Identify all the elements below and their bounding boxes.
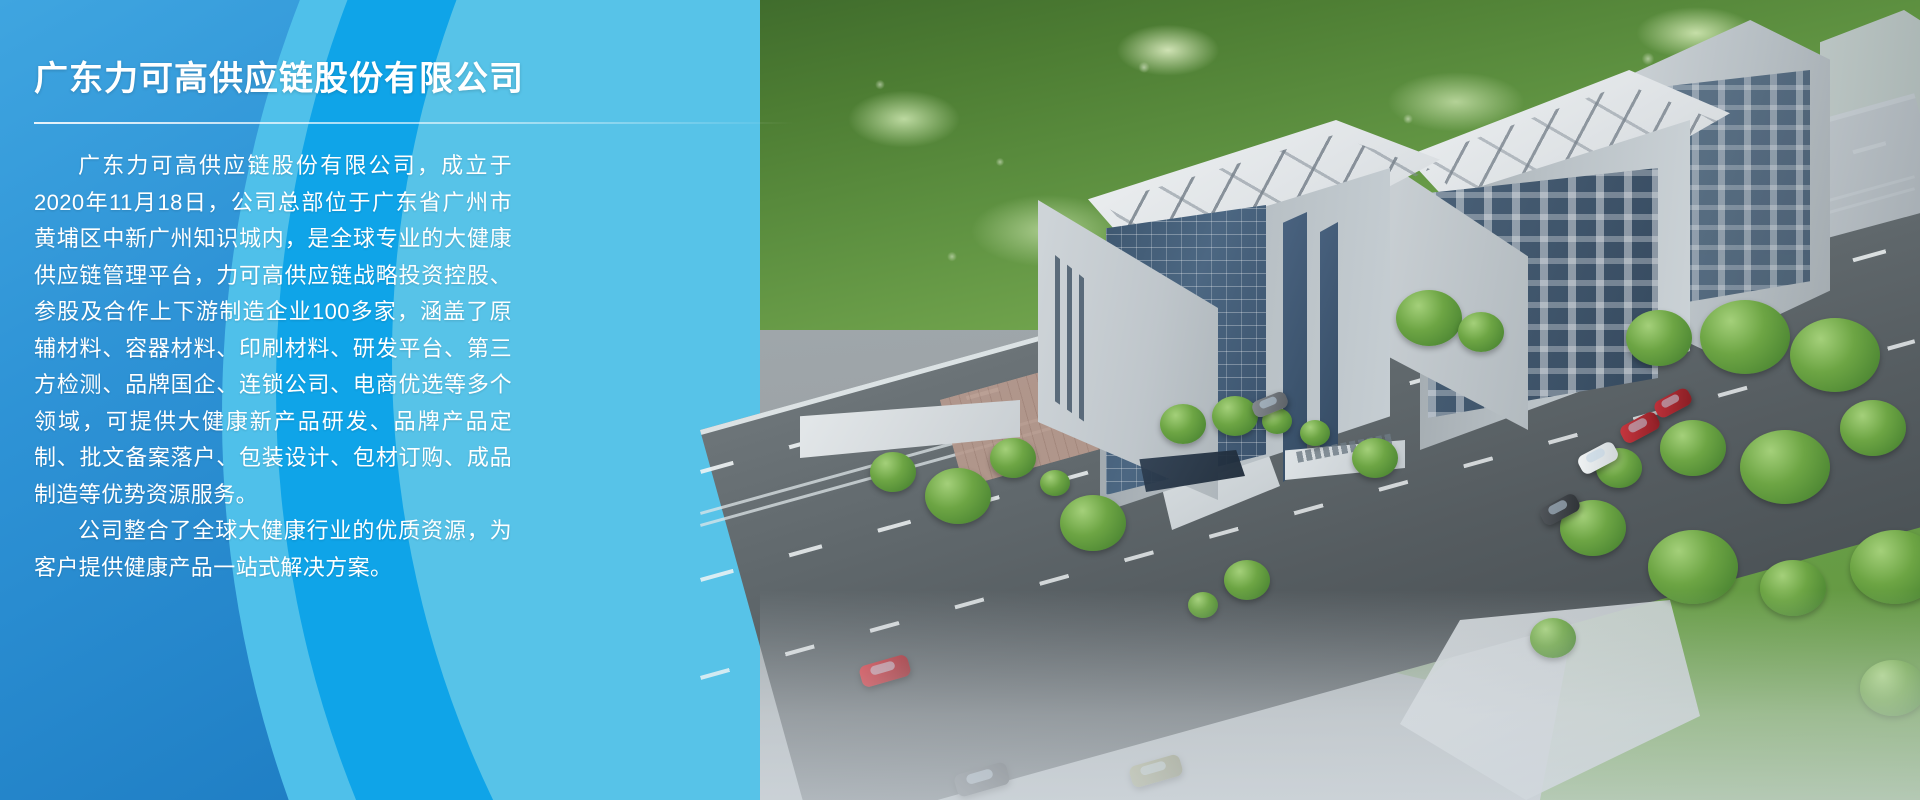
tree xyxy=(870,452,916,492)
tree xyxy=(990,438,1036,478)
tree xyxy=(1840,400,1906,456)
tree xyxy=(1060,495,1126,551)
tree xyxy=(1790,318,1880,392)
tree xyxy=(1660,420,1726,476)
tree xyxy=(1352,438,1398,478)
banner-stage: 广东力可高供应链股份有限公司 广东力可高供应链股份有限公司，成立于2020年11… xyxy=(0,0,1920,800)
paragraph-2: 公司整合了全球大健康行业的优质资源，为客户提供健康产品一站式解决方案。 xyxy=(34,513,512,586)
company-info-panel: 广东力可高供应链股份有限公司 广东力可高供应链股份有限公司，成立于2020年11… xyxy=(0,0,560,800)
tree xyxy=(1212,396,1258,436)
photo-circle-mask xyxy=(432,0,1920,800)
paragraph-1: 广东力可高供应链股份有限公司，成立于2020年11月18日，公司总部位于广东省广… xyxy=(34,148,512,513)
tree xyxy=(1040,470,1070,496)
tree xyxy=(1700,300,1790,374)
tree xyxy=(925,468,991,524)
building-a-stair-windows xyxy=(1055,255,1089,425)
tree xyxy=(1740,430,1830,504)
building-far-right xyxy=(1820,10,1920,240)
page-title: 广东力可高供应链股份有限公司 xyxy=(34,56,504,102)
campus-aerial-photo xyxy=(432,0,1920,800)
atmospheric-haze xyxy=(760,590,1920,800)
tree xyxy=(1396,290,1462,346)
tree xyxy=(1300,420,1330,446)
tree xyxy=(1626,310,1692,366)
tree xyxy=(1458,312,1504,352)
vehicle-windshield xyxy=(1258,396,1277,410)
company-description: 广东力可高供应链股份有限公司，成立于2020年11月18日，公司总部位于广东省广… xyxy=(34,148,512,586)
title-divider xyxy=(34,122,794,124)
tree xyxy=(1160,404,1206,444)
